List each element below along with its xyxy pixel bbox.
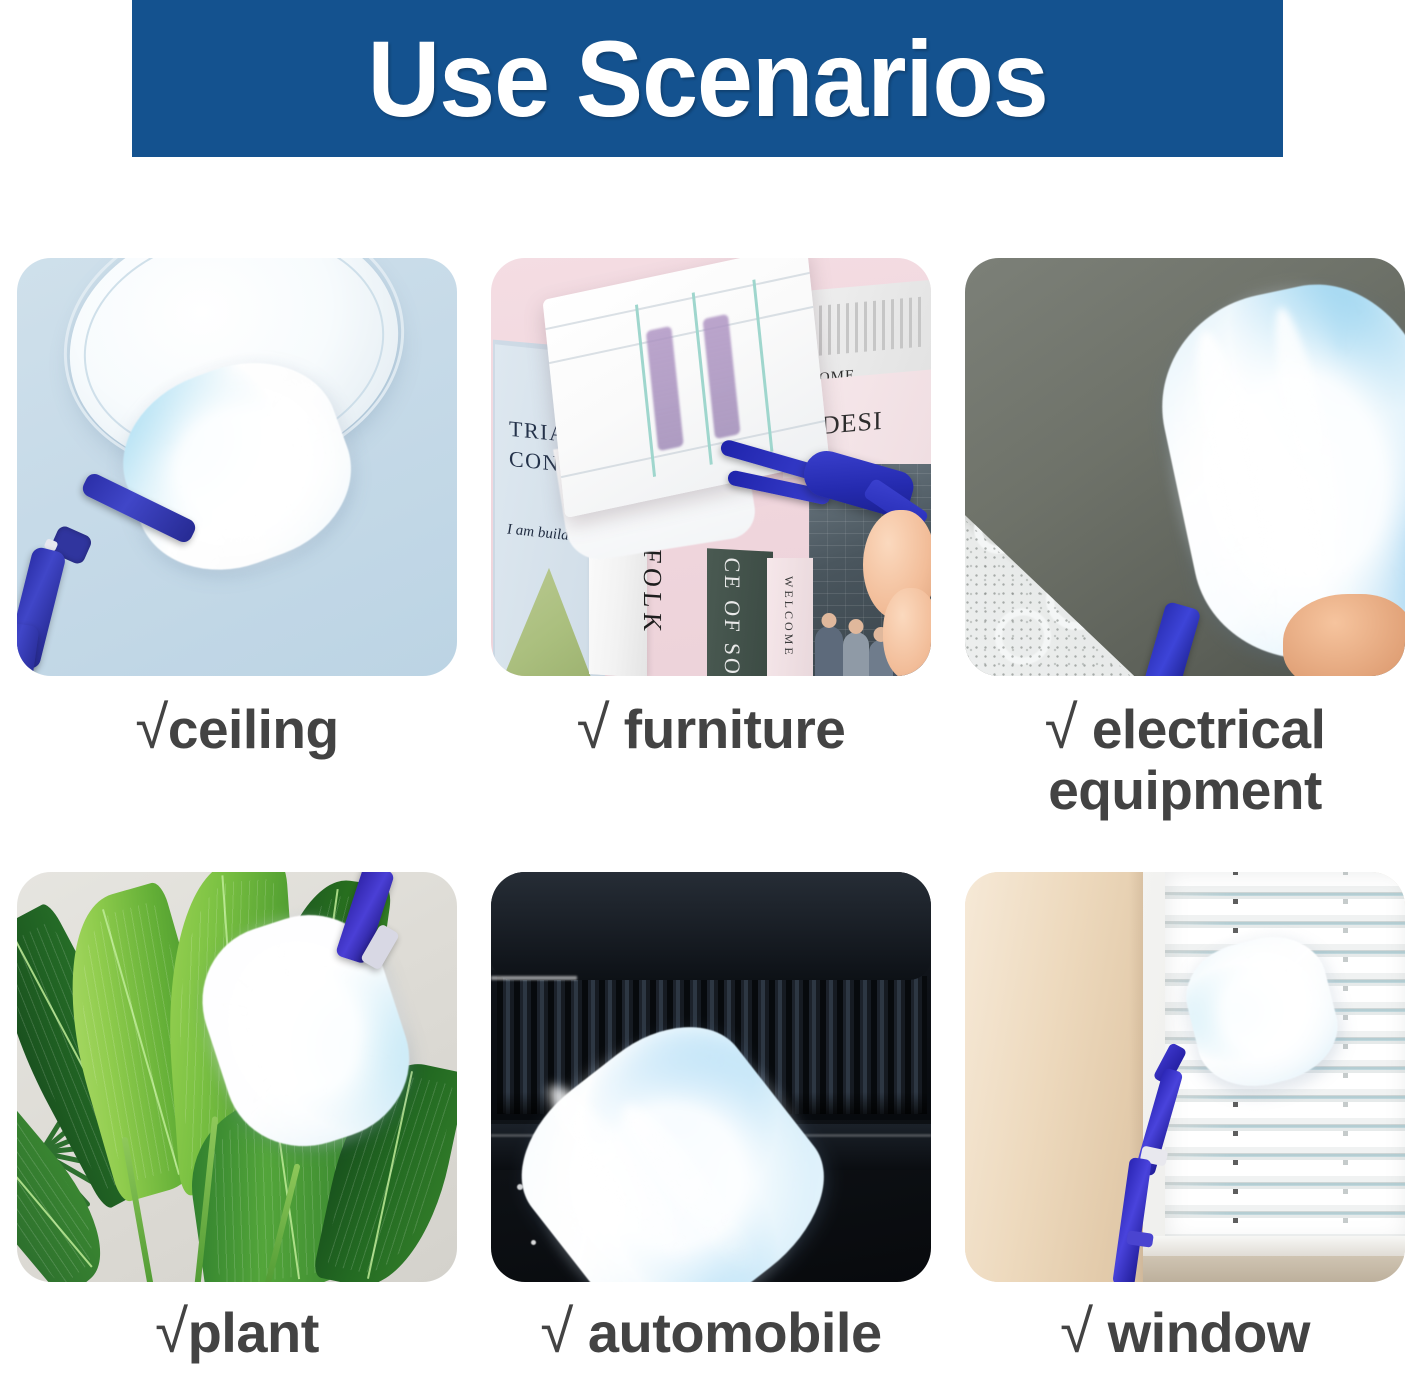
caption-furniture: √ furniture <box>485 696 937 761</box>
scenario-image-automobile <box>491 872 931 1282</box>
figure-1 <box>815 626 843 676</box>
figure-2 <box>843 632 869 676</box>
check-icon: √ <box>135 693 167 763</box>
caption-electrical-equipment: √ electricalequipment <box>959 696 1411 820</box>
water-drop-4 <box>531 1240 536 1245</box>
caption-automobile: √ automobile <box>485 1300 937 1365</box>
caption-label-ceiling: ceiling <box>168 698 339 760</box>
scenario-image-ceiling <box>17 258 457 676</box>
vent-hood <box>491 872 931 980</box>
vent-highlight <box>491 976 577 980</box>
duster-handle-segment-lower <box>17 622 40 676</box>
scenario-image-electrical-equipment <box>965 258 1405 676</box>
window-sill <box>1143 1236 1405 1258</box>
caption-label-plant: plant <box>188 1301 319 1364</box>
caption-label-furniture: furniture <box>624 698 846 760</box>
caption-ceiling: √ceiling <box>11 696 463 761</box>
book-cover-lines <box>801 297 923 358</box>
caption-label-electrical-line2: equipment <box>1048 759 1322 821</box>
book-green: CE OF SO <box>707 548 773 676</box>
book-welcome: WELCOME <box>767 558 813 676</box>
scenario-cell-ceiling: √ceiling <box>0 258 474 820</box>
header-banner: Use Scenarios <box>132 0 1283 157</box>
scenario-row-1: √ceiling HOME C DESI TRIAN CONSTR <box>0 258 1422 820</box>
scenario-row-2: √plant √ automobile <box>0 872 1422 1365</box>
scenario-image-window <box>965 872 1405 1282</box>
check-icon: √ <box>1045 693 1077 763</box>
caption-plant: √plant <box>11 1300 463 1365</box>
cloth-teal-line-3 <box>752 279 773 452</box>
book-text-ceofso: CE OF SO <box>719 557 745 676</box>
scenario-cell-automobile: √ automobile <box>474 872 948 1365</box>
book-text-welcome: WELCOME <box>781 576 796 658</box>
scenario-cell-plant: √plant <box>0 872 474 1365</box>
caption-label-automobile: automobile <box>588 1301 882 1364</box>
cloth-crease-1 <box>545 272 809 330</box>
caption-window: √ window <box>959 1300 1411 1365</box>
scenario-image-plant <box>17 872 457 1282</box>
cloth-crease-2 <box>549 306 813 364</box>
caption-label-window: window <box>1108 1301 1310 1364</box>
check-icon: √ <box>577 693 609 763</box>
page-title: Use Scenarios <box>367 25 1047 133</box>
infographic-page: Use Scenarios √ceiling <box>0 0 1422 1387</box>
check-icon: √ <box>155 1297 187 1367</box>
book-cover-illustration <box>501 563 597 676</box>
duster-handle <box>1140 601 1201 676</box>
scenario-cell-furniture: HOME C DESI TRIAN CONSTR I am buildin TH… <box>474 258 948 820</box>
scenario-cell-electrical: √ electricalequipment <box>948 258 1422 820</box>
dust-cloth-sheet <box>542 258 829 518</box>
hand-finger-2 <box>883 588 931 676</box>
caption-label-electrical-line1: electrical <box>1092 698 1326 760</box>
check-icon: √ <box>540 1297 572 1367</box>
check-icon: √ <box>1060 1297 1092 1367</box>
window-sill-lower <box>1143 1256 1405 1282</box>
scenario-cell-window: √ window <box>948 872 1422 1365</box>
scenario-image-furniture: HOME C DESI TRIAN CONSTR I am buildin TH… <box>491 258 931 676</box>
scenario-grid: √ceiling HOME C DESI TRIAN CONSTR <box>0 258 1422 1365</box>
blind-cord-2 <box>1343 872 1348 1244</box>
